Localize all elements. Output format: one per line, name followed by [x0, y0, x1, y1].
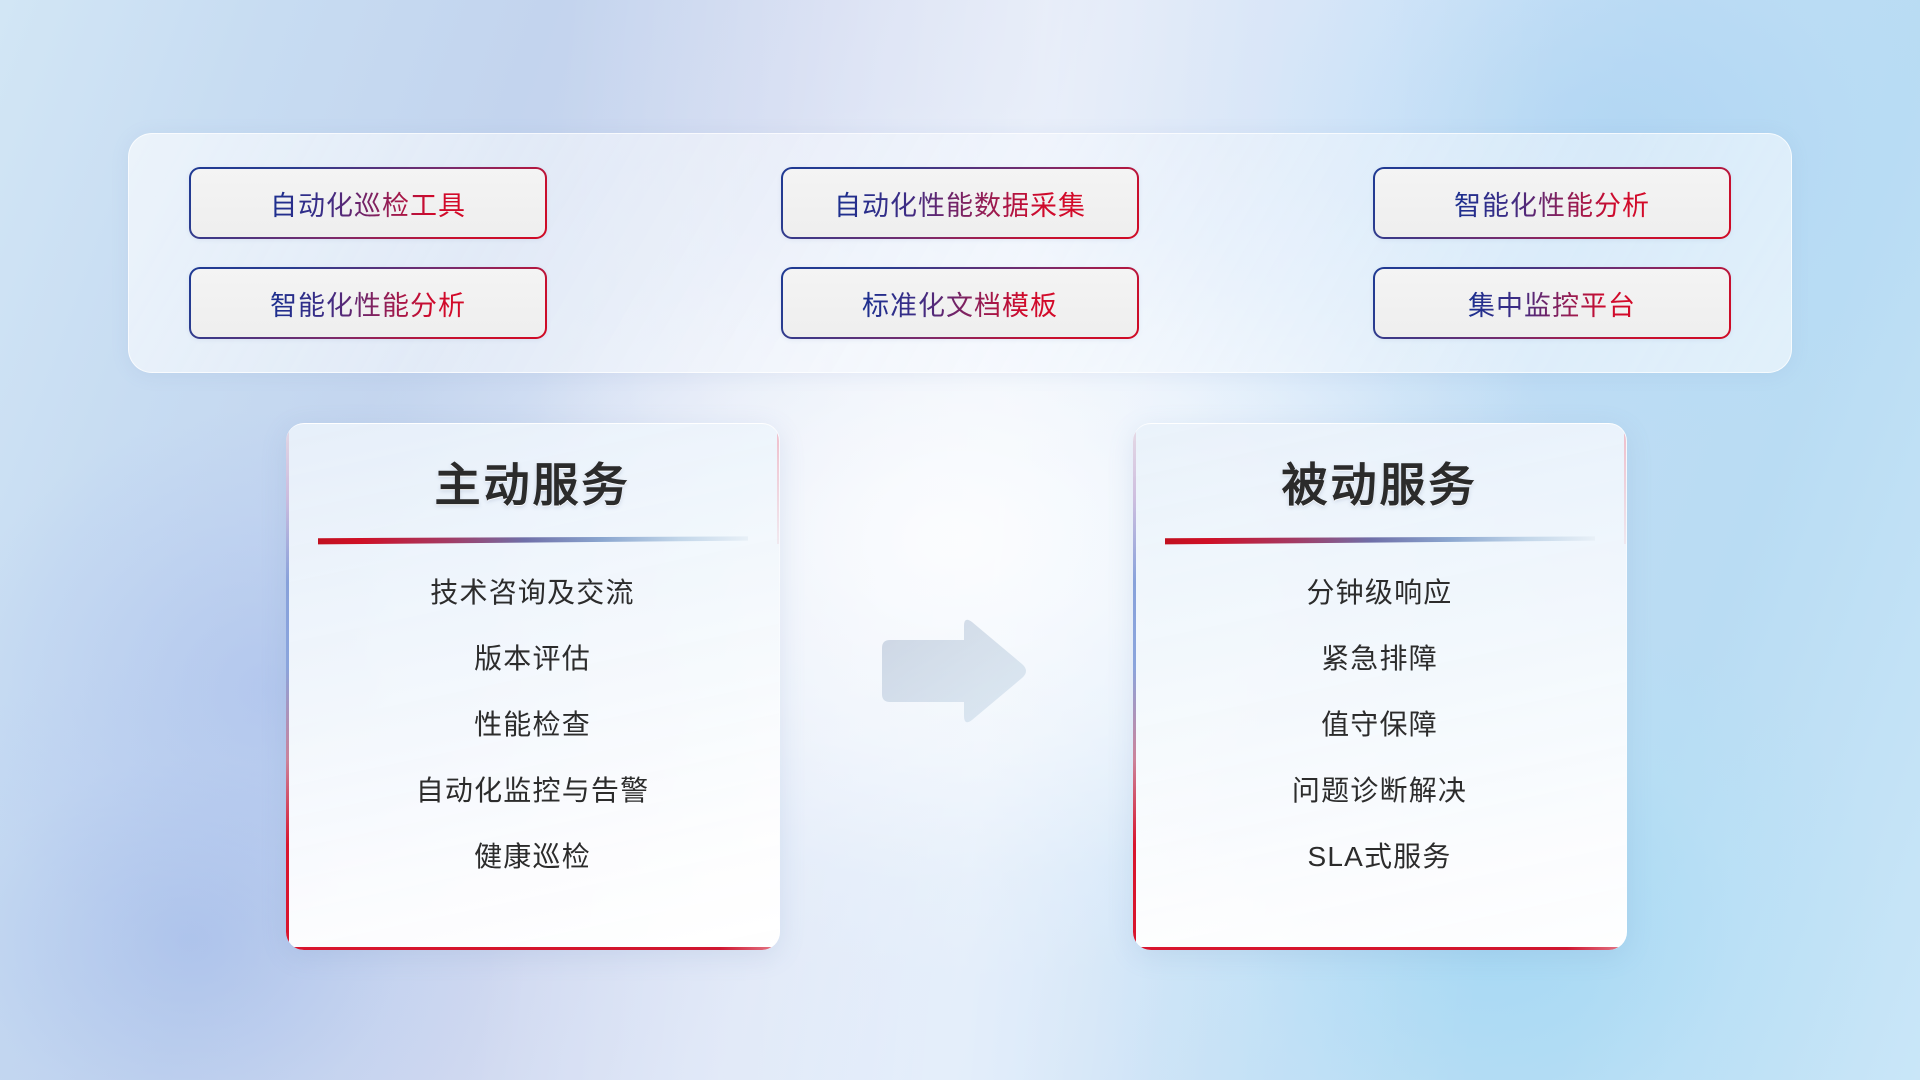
capability-pill-intelligent-performance-analysis-top[interactable]: 智能化性能分析	[1373, 167, 1731, 239]
diagram-stage: 自动化巡检工具 自动化性能数据采集 智能化性能分析 智能化性能分析 标准化文档模…	[0, 0, 1920, 1080]
capability-pill-automated-performance-data-collection[interactable]: 自动化性能数据采集	[781, 167, 1139, 239]
card-title-active: 主动服务	[435, 454, 631, 516]
list-item: 健康巡检	[474, 836, 591, 878]
card-divider-passive	[1165, 536, 1595, 546]
capability-pill-automated-inspection-tool[interactable]: 自动化巡检工具	[189, 167, 547, 239]
card-title-passive: 被动服务	[1282, 454, 1478, 516]
capability-pill-standardized-document-template[interactable]: 标准化文档模板	[781, 267, 1139, 339]
capability-pill-label: 自动化性能数据采集	[834, 184, 1086, 223]
service-card-passive: 被动服务	[1133, 423, 1627, 950]
capability-row-2: 智能化性能分析 标准化文档模板 集中监控平台	[189, 267, 1731, 339]
capability-pill-label: 标准化文档模板	[862, 284, 1058, 323]
capability-pill-intelligent-performance-analysis[interactable]: 智能化性能分析	[189, 267, 547, 339]
list-item: 自动化监控与告警	[416, 770, 650, 812]
list-item: 紧急排障	[1321, 638, 1438, 680]
list-item: 性能检查	[474, 704, 591, 746]
card-list-active: 技术咨询及交流 版本评估 性能检查 自动化监控与告警 健康巡检	[286, 572, 779, 878]
capability-row-1: 自动化巡检工具 自动化性能数据采集 智能化性能分析	[189, 167, 1731, 239]
list-item: 版本评估	[474, 638, 591, 680]
capability-pill-label: 自动化巡检工具	[270, 184, 466, 223]
list-item: 问题诊断解决	[1292, 770, 1467, 812]
list-item: 分钟级响应	[1306, 572, 1452, 614]
list-item: 技术咨询及交流	[430, 572, 634, 614]
arrow-right-icon	[872, 612, 1032, 730]
capability-pill-label: 集中监控平台	[1468, 284, 1636, 323]
card-list-passive: 分钟级响应 紧急排障 值守保障 问题诊断解决 SLA式服务	[1133, 572, 1626, 878]
list-item: SLA式服务	[1307, 836, 1451, 878]
card-divider-active	[318, 536, 748, 546]
service-card-active: 主动服务	[286, 423, 780, 950]
capability-pill-label: 智能化性能分析	[270, 284, 466, 323]
list-item: 值守保障	[1321, 704, 1438, 746]
capability-pill-centralized-monitoring-platform[interactable]: 集中监控平台	[1373, 267, 1731, 339]
capability-panel: 自动化巡检工具 自动化性能数据采集 智能化性能分析 智能化性能分析 标准化文档模…	[128, 133, 1792, 373]
capability-pill-label: 智能化性能分析	[1454, 184, 1650, 223]
